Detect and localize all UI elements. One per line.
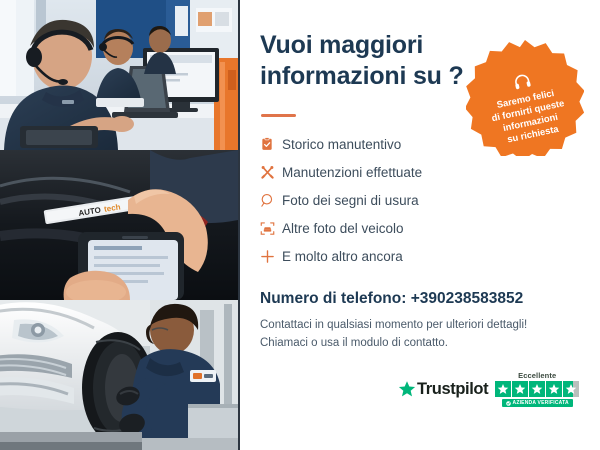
headline-line-2: informazioni su ? [260, 62, 464, 90]
feature-label: E molto altro ancora [282, 249, 403, 264]
trustpilot-logo: Trustpilot [398, 380, 488, 399]
star-filled [495, 381, 511, 397]
verified-check-icon [506, 401, 511, 406]
star-filled [546, 381, 562, 397]
star-partial [563, 381, 579, 397]
content-panel: Vuoi maggiori informazioni su ? Saremo f… [240, 0, 600, 450]
page-title: Vuoi maggiori informazioni su ? [260, 30, 475, 92]
feature-label: Foto dei segni di usura [282, 193, 419, 208]
trustpilot-rating-block[interactable]: Trustpilot Eccellente [398, 371, 579, 407]
feature-label: Storico manutentivo [282, 137, 401, 152]
photo-column: AUTO tech [0, 0, 238, 450]
feature-item-maintenance-done: Manutenzioni effettuate [260, 158, 540, 186]
phone-number-heading: Numero di telefono: +390238583852 [260, 290, 523, 308]
trustpilot-wordmark: Trustpilot [417, 380, 488, 399]
feature-list: Storico manutentivo Manutenzioni effettu… [260, 130, 540, 270]
garage-wheel-service-photo [0, 300, 238, 450]
clipboard-check-icon [260, 134, 282, 154]
headline-line-1: Vuoi maggiori [260, 31, 423, 59]
promo-banner: AUTO tech [0, 0, 600, 450]
star-filled [529, 381, 545, 397]
star-rating [495, 381, 579, 397]
feature-item-wear-photos: Foto dei segni di usura [260, 186, 540, 214]
plus-icon [260, 246, 282, 266]
call-center-agents-photo [0, 0, 238, 150]
trustpilot-rating: Eccellente [495, 371, 579, 407]
rating-word: Eccellente [518, 371, 556, 380]
feature-label: Altre foto del veicolo [282, 221, 404, 236]
photo-frame-icon [260, 218, 282, 238]
vehicle-inspection-photo: AUTO tech [0, 150, 238, 300]
contact-subtext-line-1: Contattaci in qualsiasi momento per ulte… [260, 319, 527, 331]
contact-subtext-line-2: Chiamaci o usa il modulo di contatto. [260, 337, 448, 349]
feature-item-other-photos: Altre foto del veicolo [260, 214, 540, 242]
magnifier-icon [260, 190, 282, 210]
trustpilot-star-icon [398, 380, 416, 398]
tools-cross-icon [260, 162, 282, 182]
verified-business-badge: AZIENDA VERIFICATA [502, 399, 573, 407]
star-filled [512, 381, 528, 397]
headline-underline [261, 114, 296, 117]
feature-label: Manutenzioni effettuate [282, 165, 422, 180]
feature-item-more: E molto altro ancora [260, 242, 540, 270]
verified-label: AZIENDA VERIFICATA [513, 400, 569, 406]
feature-item-service-history: Storico manutentivo [260, 130, 540, 158]
